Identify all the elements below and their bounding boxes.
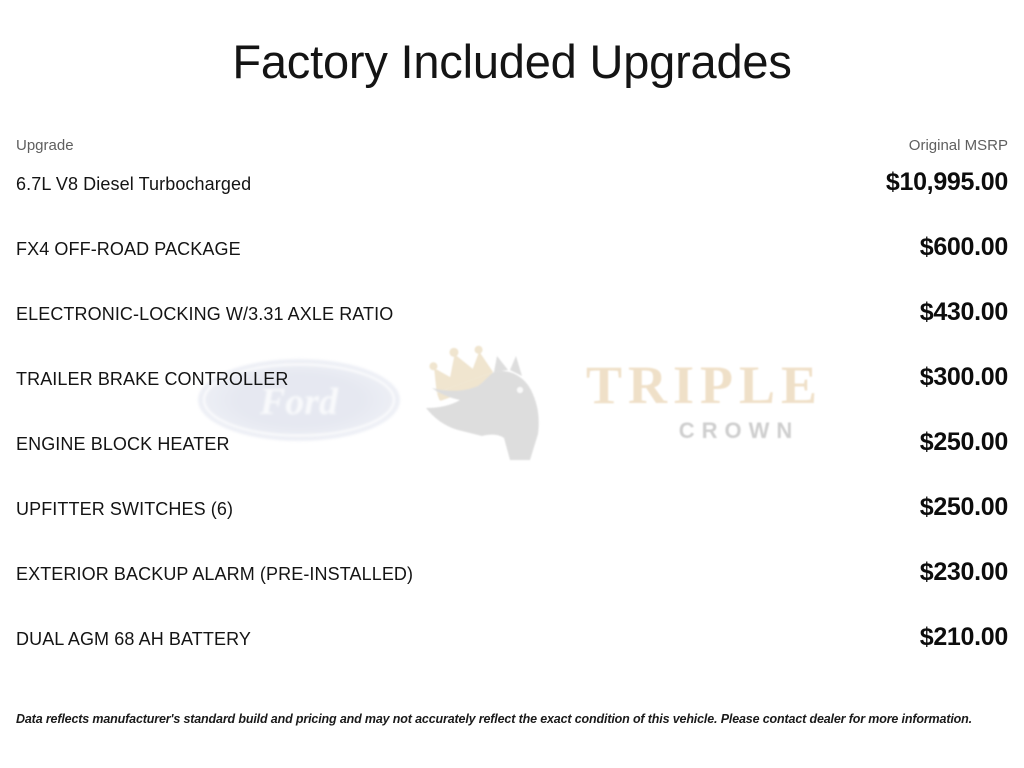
table-row: EXTERIOR BACKUP ALARM (PRE-INSTALLED) $2… bbox=[16, 558, 1008, 623]
upgrade-price: $250.00 bbox=[920, 493, 1008, 522]
upgrades-page: Factory Included Upgrades Upgrade Origin… bbox=[0, 0, 1024, 768]
table-row: ENGINE BLOCK HEATER $250.00 bbox=[16, 428, 1008, 493]
upgrade-name: ELECTRONIC-LOCKING W/3.31 AXLE RATIO bbox=[16, 304, 393, 325]
column-header-msrp: Original MSRP bbox=[909, 137, 1008, 154]
upgrade-name: UPFITTER SWITCHES (6) bbox=[16, 499, 233, 520]
page-title: Factory Included Upgrades bbox=[16, 0, 1008, 85]
table-row: TRAILER BRAKE CONTROLLER $300.00 bbox=[16, 363, 1008, 428]
table-row: UPFITTER SWITCHES (6) $250.00 bbox=[16, 493, 1008, 558]
table-row: FX4 OFF-ROAD PACKAGE $600.00 bbox=[16, 233, 1008, 298]
upgrade-price: $230.00 bbox=[920, 558, 1008, 587]
upgrade-name: FX4 OFF-ROAD PACKAGE bbox=[16, 239, 241, 260]
disclaimer-text: Data reflects manufacturer's standard bu… bbox=[16, 712, 1008, 726]
upgrade-price: $300.00 bbox=[920, 363, 1008, 392]
table-row: DUAL AGM 68 AH BATTERY $210.00 bbox=[16, 623, 1008, 688]
upgrade-name: EXTERIOR BACKUP ALARM (PRE-INSTALLED) bbox=[16, 564, 413, 585]
upgrade-name: DUAL AGM 68 AH BATTERY bbox=[16, 629, 251, 650]
upgrade-name: TRAILER BRAKE CONTROLLER bbox=[16, 369, 288, 390]
upgrades-list: 6.7L V8 Diesel Turbocharged $10,995.00 F… bbox=[16, 168, 1008, 688]
upgrade-price: $430.00 bbox=[920, 298, 1008, 327]
table-header-row: Upgrade Original MSRP bbox=[16, 137, 1008, 154]
upgrade-price: $600.00 bbox=[920, 233, 1008, 262]
upgrade-price: $10,995.00 bbox=[886, 168, 1008, 197]
upgrade-price: $210.00 bbox=[920, 623, 1008, 652]
column-header-upgrade: Upgrade bbox=[16, 137, 74, 154]
table-row: 6.7L V8 Diesel Turbocharged $10,995.00 bbox=[16, 168, 1008, 233]
upgrade-price: $250.00 bbox=[920, 428, 1008, 457]
table-row: ELECTRONIC-LOCKING W/3.31 AXLE RATIO $43… bbox=[16, 298, 1008, 363]
upgrade-name: 6.7L V8 Diesel Turbocharged bbox=[16, 174, 251, 195]
upgrade-name: ENGINE BLOCK HEATER bbox=[16, 434, 230, 455]
